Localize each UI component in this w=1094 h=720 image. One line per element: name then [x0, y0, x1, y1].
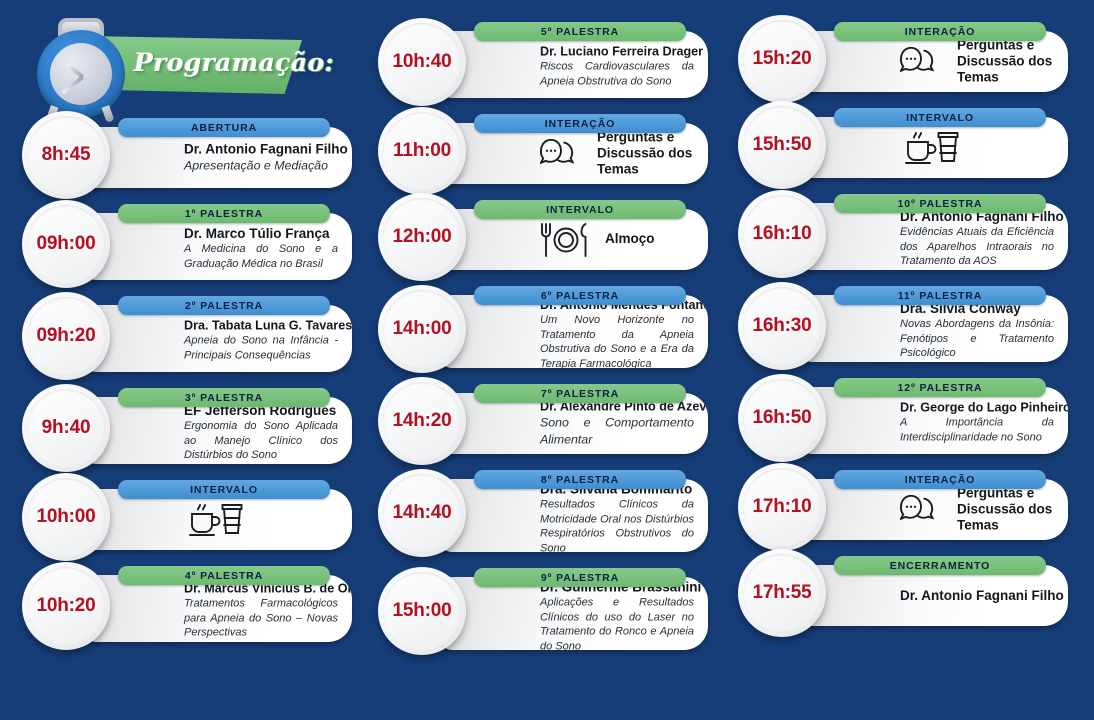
card-content: Dra. Silvana BommaritoResultados Clínico…	[540, 481, 694, 552]
card-content: Dr. Guilherme BrassaniniAplicações e Res…	[540, 579, 694, 650]
time-value: 15h:50	[752, 134, 811, 156]
schedule-card[interactable]: 4º PALESTRADr. Marcus Vinícius B. de Oli…	[22, 566, 352, 646]
card-content: Dr. George do Lago PinheiroA Importância…	[900, 400, 1054, 445]
card-category-label: 3º PALESTRA	[185, 392, 263, 404]
card-content: Perguntas e Discussão dos Temas	[900, 485, 1054, 534]
card-panel: Dr. George do Lago PinheiroA Importância…	[800, 387, 1068, 454]
time-value: 10h:40	[392, 51, 451, 73]
card-panel: Dr. Marco Túlio FrançaA Medicina do Sono…	[84, 213, 352, 280]
talk-topic: Evidências Atuais da Eficiência dos Apar…	[900, 226, 1054, 270]
talk-topic: Apneia do Sono na Infância - Principais …	[184, 334, 338, 363]
card-category-tab: ENCERRAMENTO	[834, 556, 1046, 575]
card-category-tab: 3º PALESTRA	[118, 388, 330, 407]
card-category-label: 6º PALESTRA	[541, 290, 619, 302]
schedule-card[interactable]: INTERAÇÃOPerguntas e Discussão dos Temas…	[378, 114, 708, 188]
schedule-card[interactable]: 2º PALESTRADra. Tabata Luna G. TavaresAp…	[22, 296, 352, 376]
schedule-card[interactable]: 10º PALESTRADr. Antonio Fagnani FilhoEvi…	[738, 194, 1068, 274]
card-category-label: 10º PALESTRA	[897, 198, 982, 210]
card-category-tab: 11º PALESTRA	[834, 286, 1046, 305]
card-icon-label: Perguntas e Discussão dos Temas	[957, 485, 1054, 534]
card-category-tab: 10º PALESTRA	[834, 194, 1046, 213]
schedule-card[interactable]: 8º PALESTRADra. Silvana BommaritoResulta…	[378, 470, 708, 556]
talk-topic: A Importância da Interdisciplinaridade n…	[900, 416, 1054, 445]
speaker-name: Dr. Antonio Fagnani Filho	[900, 588, 1054, 604]
time-bubble: 09h:00	[22, 200, 110, 288]
card-category-label: 5º PALESTRA	[541, 26, 619, 38]
card-category-label: INTERVALO	[190, 484, 258, 496]
card-category-tab: 4º PALESTRA	[118, 566, 330, 585]
card-category-label: 12º PALESTRA	[897, 382, 982, 394]
time-bubble: 14h:20	[378, 377, 466, 465]
schedule-card[interactable]: 1º PALESTRADr. Marco Túlio FrançaA Medic…	[22, 204, 352, 284]
time-bubble: 16h:30	[738, 282, 826, 370]
time-bubble: 10h:40	[378, 18, 466, 106]
time-bubble: 10h:00	[22, 473, 110, 561]
card-icon-row: Perguntas e Discussão dos Temas	[900, 485, 1054, 534]
schedule-column-2: 5º PALESTRADr. Luciano Ferreira DragerRi…	[378, 22, 708, 666]
talk-topic: Aplicações e Resultados Clínicos do uso …	[540, 596, 694, 650]
time-bubble: 10h:20	[22, 562, 110, 650]
card-content: Dr. Marcus Vinícius B. de OliveiraTratam…	[184, 581, 338, 640]
speaker-name: Dra. Tabata Luna G. Tavares	[184, 318, 338, 333]
card-content	[184, 500, 338, 540]
card-content: Dr. Alexandre Pinto de AzevedoSono e Com…	[540, 399, 694, 448]
card-icon-label: Perguntas e Discussão dos Temas	[597, 129, 694, 178]
chat-bubbles-icon	[900, 44, 944, 80]
card-category-label: INTERVALO	[546, 204, 614, 216]
time-value: 15h:20	[752, 48, 811, 70]
cutlery-plate-icon	[540, 221, 592, 259]
schedule-card[interactable]: INTERVALOAlmoço12h:00	[378, 200, 708, 274]
card-category-label: 8º PALESTRA	[541, 474, 619, 486]
schedule-card[interactable]: ENCERRAMENTODr. Antonio Fagnani Filho17h…	[738, 556, 1068, 630]
time-value: 14h:00	[392, 318, 451, 340]
card-icon-row: Perguntas e Discussão dos Temas	[900, 37, 1054, 86]
card-panel: Dra. Tabata Luna G. TavaresApneia do Son…	[84, 305, 352, 372]
schedule-card[interactable]: INTERVALO15h:50	[738, 108, 1068, 182]
card-category-label: 1º PALESTRA	[185, 208, 263, 220]
talk-topic: Riscos Cardiovasculares da Apneia Obstru…	[540, 60, 694, 89]
time-bubble: 17h:10	[738, 463, 826, 551]
time-value: 15h:00	[392, 600, 451, 622]
schedule-card[interactable]: 7º PALESTRADr. Alexandre Pinto de Azeved…	[378, 384, 708, 458]
time-value: 16h:30	[752, 315, 811, 337]
schedule-column-3: INTERAÇÃOPerguntas e Discussão dos Temas…	[738, 22, 1068, 642]
coffee-cup-icon	[900, 128, 962, 168]
card-icon-row: Perguntas e Discussão dos Temas	[540, 129, 694, 178]
card-content: Dr. Antonio Mendes FontanelliUm Novo Hor…	[540, 297, 694, 368]
speaker-name: Dr. Marco Túlio França	[184, 225, 338, 241]
time-value: 8h:45	[42, 144, 91, 166]
card-category-label: INTERAÇÃO	[905, 474, 976, 486]
schedule-card[interactable]: ABERTURADr. Antonio Fagnani FilhoApresen…	[22, 118, 352, 192]
time-bubble: 16h:10	[738, 190, 826, 278]
card-content: Perguntas e Discussão dos Temas	[900, 37, 1054, 86]
schedule-card[interactable]: 5º PALESTRADr. Luciano Ferreira DragerRi…	[378, 22, 708, 102]
alarm-clock-icon	[34, 18, 128, 112]
card-category-label: ENCERRAMENTO	[890, 560, 990, 572]
card-category-tab: 2º PALESTRA	[118, 296, 330, 315]
chat-bubbles-icon	[900, 492, 944, 528]
time-bubble: 12h:00	[378, 193, 466, 281]
card-panel: Dr. Guilherme BrassaniniAplicações e Res…	[440, 577, 708, 650]
card-panel: Dr. Luciano Ferreira DragerRiscos Cardio…	[440, 31, 708, 98]
talk-topic: Ergonomia do Sono Aplicada ao Manejo Clí…	[184, 420, 338, 464]
card-panel: Dr. Antonio Fagnani FilhoEvidências Atua…	[800, 203, 1068, 270]
card-category-tab: INTERAÇÃO	[834, 22, 1046, 41]
time-value: 9h:40	[42, 417, 91, 439]
time-bubble: 8h:45	[22, 111, 110, 199]
talk-topic: Novas Abordagens da Insônia: Fenótipos e…	[900, 318, 1054, 362]
speaker-name: Dr. Antonio Fagnani Filho	[184, 141, 338, 157]
talk-topic: Resultados Clínicos da Motricidade Oral …	[540, 498, 694, 552]
schedule-card[interactable]: INTERVALO10h:00	[22, 480, 352, 554]
card-category-label: 2º PALESTRA	[185, 300, 263, 312]
time-bubble: 14h:00	[378, 285, 466, 373]
card-content: Perguntas e Discussão dos Temas	[540, 129, 694, 178]
card-category-label: 4º PALESTRA	[185, 570, 263, 582]
card-content: Dr. Luciano Ferreira DragerRiscos Cardio…	[540, 44, 694, 89]
talk-topic: Apresentação e Mediação	[184, 158, 338, 174]
card-category-label: 11º PALESTRA	[898, 290, 982, 302]
coffee-cup-icon	[184, 500, 246, 540]
card-icon-row: Almoço	[540, 221, 694, 259]
card-category-tab: INTERVALO	[118, 480, 330, 499]
time-bubble: 15h:00	[378, 567, 466, 655]
card-content: Dr. Antonio Fagnani FilhoEvidências Atua…	[900, 209, 1054, 269]
card-content: Dra. Tabata Luna G. TavaresApneia do Son…	[184, 318, 338, 363]
card-category-tab: INTERAÇÃO	[474, 114, 686, 133]
talk-topic: A Medicina do Sono e a Graduação Médica …	[184, 242, 338, 271]
schedule-card[interactable]: 6º PALESTRADr. Antonio Mendes Fontanelli…	[378, 286, 708, 372]
time-value: 17h:10	[752, 496, 811, 518]
card-icon-label: Almoço	[605, 231, 655, 247]
schedule-card[interactable]: INTERAÇÃOPerguntas e Discussão dos Temas…	[738, 470, 1068, 544]
card-category-tab: 6º PALESTRA	[474, 286, 686, 305]
card-category-tab: ABERTURA	[118, 118, 330, 137]
card-category-tab: 5º PALESTRA	[474, 22, 686, 41]
schedule-card[interactable]: 12º PALESTRADr. George do Lago PinheiroA…	[738, 378, 1068, 458]
card-panel: Dr. Antonio Mendes FontanelliUm Novo Hor…	[440, 295, 708, 368]
speaker-name: Dr. George do Lago Pinheiro	[900, 400, 1054, 415]
time-value: 11h:00	[393, 140, 451, 162]
card-category-label: ABERTURA	[191, 122, 257, 134]
time-bubble: 17h:55	[738, 549, 826, 637]
card-category-label: INTERVALO	[906, 112, 974, 124]
time-value: 16h:10	[752, 223, 811, 245]
header-logo-block: Programação:	[22, 8, 322, 118]
card-content: Dra. Sílvia ConwayNovas Abordagens da In…	[900, 301, 1054, 361]
card-category-label: 9º PALESTRA	[541, 572, 619, 584]
time-value: 12h:00	[392, 226, 451, 248]
card-content	[900, 128, 1054, 168]
card-category-tab: 8º PALESTRA	[474, 470, 686, 489]
schedule-card[interactable]: 11º PALESTRADra. Sílvia ConwayNovas Abor…	[738, 286, 1068, 366]
time-bubble: 15h:50	[738, 101, 826, 189]
time-bubble: 16h:50	[738, 374, 826, 462]
talk-topic: Tratamentos Farmacológicos para Apneia d…	[184, 597, 338, 641]
card-category-tab: 1º PALESTRA	[118, 204, 330, 223]
talk-topic: Sono e Comportamento Alimentar	[540, 415, 694, 448]
card-category-tab: 7º PALESTRA	[474, 384, 686, 403]
time-value: 14h:40	[392, 502, 451, 524]
time-value: 10h:00	[36, 506, 95, 528]
time-value: 16h:50	[752, 407, 811, 429]
page-title: Programação:	[134, 48, 334, 77]
time-bubble: 09h:20	[22, 292, 110, 380]
time-value: 09h:20	[36, 325, 95, 347]
card-content: Dr. Antonio Fagnani FilhoApresentação e …	[184, 141, 338, 174]
schedule-card[interactable]: 9º PALESTRADr. Guilherme BrassaniniAplic…	[378, 568, 708, 654]
schedule-column-1: ABERTURADr. Antonio Fagnani FilhoApresen…	[22, 118, 352, 658]
time-value: 14h:20	[392, 410, 451, 432]
card-category-label: INTERAÇÃO	[905, 26, 976, 38]
card-content: Almoço	[540, 221, 694, 259]
card-panel: EF Jefferson RodriguesErgonomia do Sono …	[84, 397, 352, 464]
talk-topic: Um Novo Horizonte no Tratamento da Apnei…	[540, 313, 694, 368]
card-panel: Dr. Marcus Vinícius B. de OliveiraTratam…	[84, 575, 352, 642]
time-bubble: 9h:40	[22, 384, 110, 472]
card-icon-row	[900, 128, 1054, 168]
time-value: 09h:00	[36, 233, 95, 255]
card-category-tab: 12º PALESTRA	[834, 378, 1046, 397]
time-bubble: 14h:40	[378, 469, 466, 557]
time-bubble: 11h:00	[378, 107, 466, 195]
card-panel: Dra. Silvana BommaritoResultados Clínico…	[440, 479, 708, 552]
chat-bubbles-icon	[540, 136, 584, 172]
time-value: 17h:55	[752, 582, 811, 604]
schedule-card[interactable]: INTERAÇÃOPerguntas e Discussão dos Temas…	[738, 22, 1068, 96]
card-category-tab: 9º PALESTRA	[474, 568, 686, 587]
card-panel: Dra. Sílvia ConwayNovas Abordagens da In…	[800, 295, 1068, 362]
card-category-tab: INTERVALO	[834, 108, 1046, 127]
schedule-card[interactable]: 3º PALESTRAEF Jefferson RodriguesErgonom…	[22, 388, 352, 468]
card-content: Dr. Antonio Fagnani Filho	[900, 588, 1054, 604]
card-category-tab: INTERVALO	[474, 200, 686, 219]
time-bubble: 15h:20	[738, 15, 826, 103]
time-value: 10h:20	[36, 595, 95, 617]
card-category-tab: INTERAÇÃO	[834, 470, 1046, 489]
card-category-label: INTERAÇÃO	[545, 118, 616, 130]
card-icon-row	[184, 500, 338, 540]
card-content: EF Jefferson RodriguesErgonomia do Sono …	[184, 403, 338, 463]
speaker-name: Dr. Luciano Ferreira Drager	[540, 44, 694, 59]
card-category-label: 7º PALESTRA	[541, 388, 619, 400]
card-content: Dr. Marco Túlio FrançaA Medicina do Sono…	[184, 225, 338, 271]
card-icon-label: Perguntas e Discussão dos Temas	[957, 37, 1054, 86]
